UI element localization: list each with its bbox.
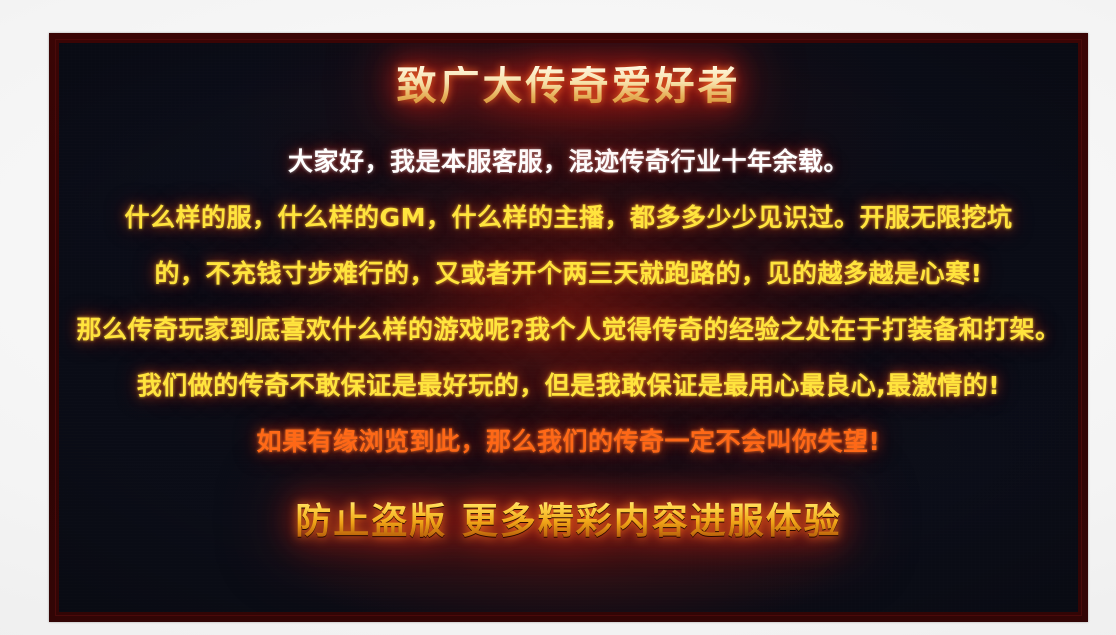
body-line-2: 什么样的服，什么样的GM，什么样的主播，都多多少少见识过。开服无限挖坑: [125, 190, 1013, 246]
body-line-4: 那么传奇玩家到底喜欢什么样的游戏呢?我个人觉得传奇的经验之处在于打装备和打架。: [76, 302, 1060, 358]
body-line-4-segment-2: 到底喜欢什么样的游戏呢?: [229, 315, 525, 344]
body-line-6: 如果有缘浏览到此，那么我们的传奇一定不会叫你失望!: [257, 414, 881, 470]
body-line-3: 的，不充钱寸步难行的，又或者开个两三天就跑路的，见的越多越是心寒!: [155, 246, 983, 302]
body-line-5-segment-1: 我们做的传奇不敢保证是最好玩的，: [137, 371, 545, 400]
poster-content: 致广大传奇爱好者 大家好，我是本服客服，混迹传奇行业十年余载。什么样的服，什么样…: [59, 43, 1078, 612]
body-line-5: 我们做的传奇不敢保证是最好玩的，但是我敢保证是最用心最良心,最激情的!: [137, 358, 1000, 414]
poster-headline: 致广大传奇爱好者: [397, 66, 741, 106]
poster-frame: 致广大传奇爱好者 大家好，我是本服客服，混迹传奇行业十年余载。什么样的服，什么样…: [49, 33, 1088, 622]
poster-canvas: 致广大传奇爱好者 大家好，我是本服客服，混迹传奇行业十年余载。什么样的服，什么样…: [59, 43, 1078, 612]
body-line-3-segment-4: 心寒!: [920, 259, 983, 288]
body-line-6-segment-2: 那么我们的传奇一定不会叫你失望!: [486, 427, 880, 456]
body-line-6-segment-1: 如果有缘浏览到此，: [257, 427, 487, 456]
body-line-4-segment-3: 我个人觉得传奇的经验之处在于打装备和打架。: [525, 315, 1061, 344]
footer-banner-text: 防止盗版 更多精彩内容进服体验: [295, 492, 842, 544]
body-line-4-segment-1: 那么传奇玩家: [76, 315, 229, 344]
body-line-3-segment-2: 不充钱寸步难行的: [206, 259, 410, 288]
body-line-1: 大家好，我是本服客服，混迹传奇行业十年余载。: [288, 134, 849, 190]
body-line-3-segment-1: 的，: [155, 259, 206, 288]
poster-body: 大家好，我是本服客服，混迹传奇行业十年余载。什么样的服，什么样的GM，什么样的主…: [59, 134, 1078, 470]
body-line-3-segment-3: ，又或者开个两三天就跑路的，见的越多越是: [410, 259, 920, 288]
body-line-5-segment-2: 但是我敢保证是最用心最良心,最激情的!: [545, 371, 1000, 400]
